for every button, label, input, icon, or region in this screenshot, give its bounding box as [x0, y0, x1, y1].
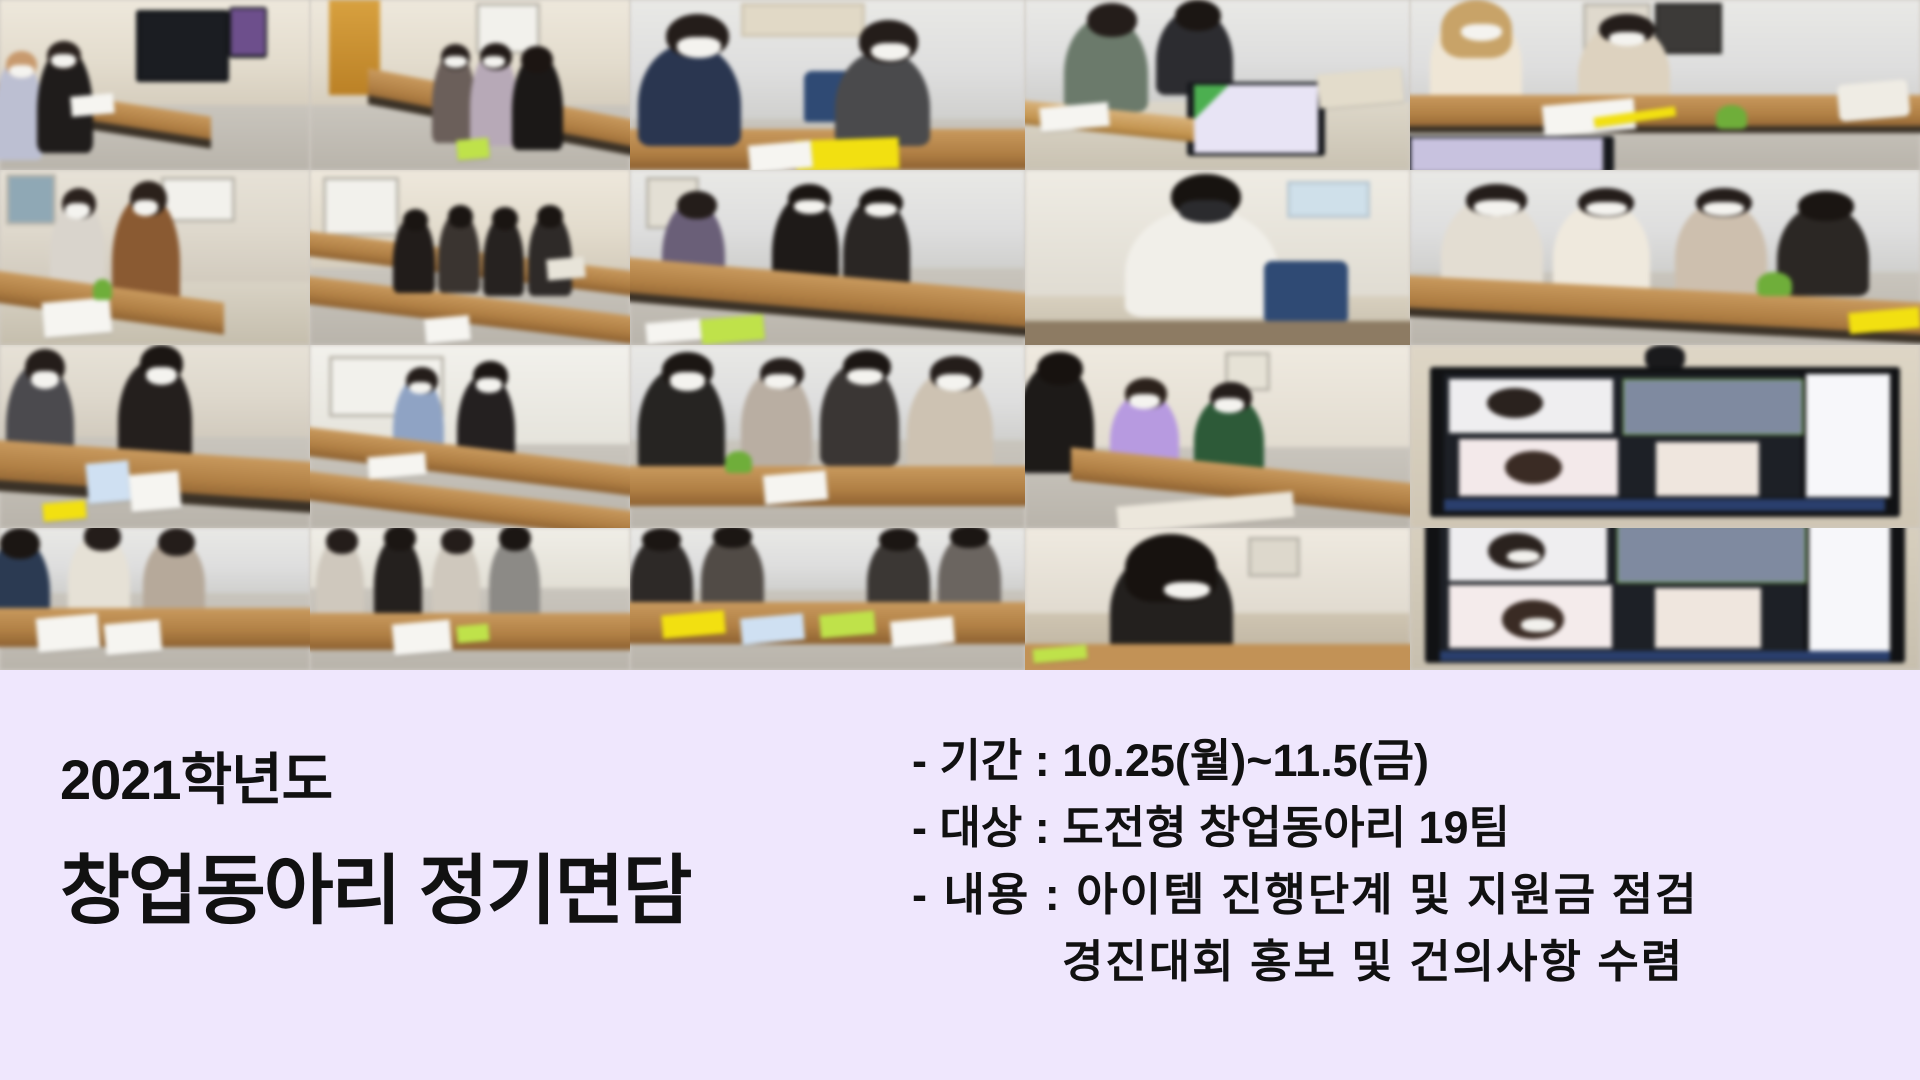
collage-row-3	[0, 345, 1920, 528]
event-details-block: - 기간 : 10.25(월)~11.5(금) - 대상 : 도전형 창업동아리…	[912, 738, 1699, 1006]
collage-photo-p9	[1025, 170, 1410, 345]
collage-photo-p13	[630, 345, 1025, 528]
collage-row-1	[0, 0, 1920, 170]
collage-photo-p15	[1410, 345, 1920, 528]
collage-photo-p7	[310, 170, 630, 345]
collage-photo-p6	[0, 170, 310, 345]
collage-photo-p19	[1025, 528, 1410, 670]
collage-photo-p4	[1025, 0, 1410, 170]
collage-photo-p5	[1410, 0, 1920, 170]
collage-photo-p2	[310, 0, 630, 170]
collage-photo-p11	[0, 345, 310, 528]
collage-photo-p16	[0, 528, 310, 670]
left-text-block: 2021학년도 창업동아리 정기면담	[60, 752, 690, 930]
collage-photo-p12	[310, 345, 630, 528]
collage-row-2	[0, 170, 1920, 345]
detail-target: - 대상 : 도전형 창업동아리 19팀	[912, 805, 1699, 850]
detail-period: - 기간 : 10.25(월)~11.5(금)	[912, 738, 1699, 783]
collage-photo-p17	[310, 528, 630, 670]
page-title: 창업동아리 정기면담	[60, 854, 690, 930]
collage-photo-p14	[1025, 345, 1410, 528]
detail-content: - 내용 : 아이템 진행단계 및 지원금 점검	[912, 872, 1699, 917]
poster-text-panel: 2021학년도 창업동아리 정기면담 - 기간 : 10.25(월)~11.5(…	[0, 670, 1920, 1080]
detail-content-continued: 경진대회 홍보 및 건의사항 수렴	[912, 939, 1699, 984]
collage-photo-p1	[0, 0, 310, 170]
collage-row-4	[0, 528, 1920, 670]
collage-photo-p10	[1410, 170, 1920, 345]
collage-photo-p18	[630, 528, 1025, 670]
collage-photo-p20	[1410, 528, 1920, 670]
photo-collage	[0, 0, 1920, 670]
collage-photo-p3	[630, 0, 1025, 170]
academic-year-label: 2021학년도	[60, 752, 690, 808]
collage-photo-p8	[630, 170, 1025, 345]
